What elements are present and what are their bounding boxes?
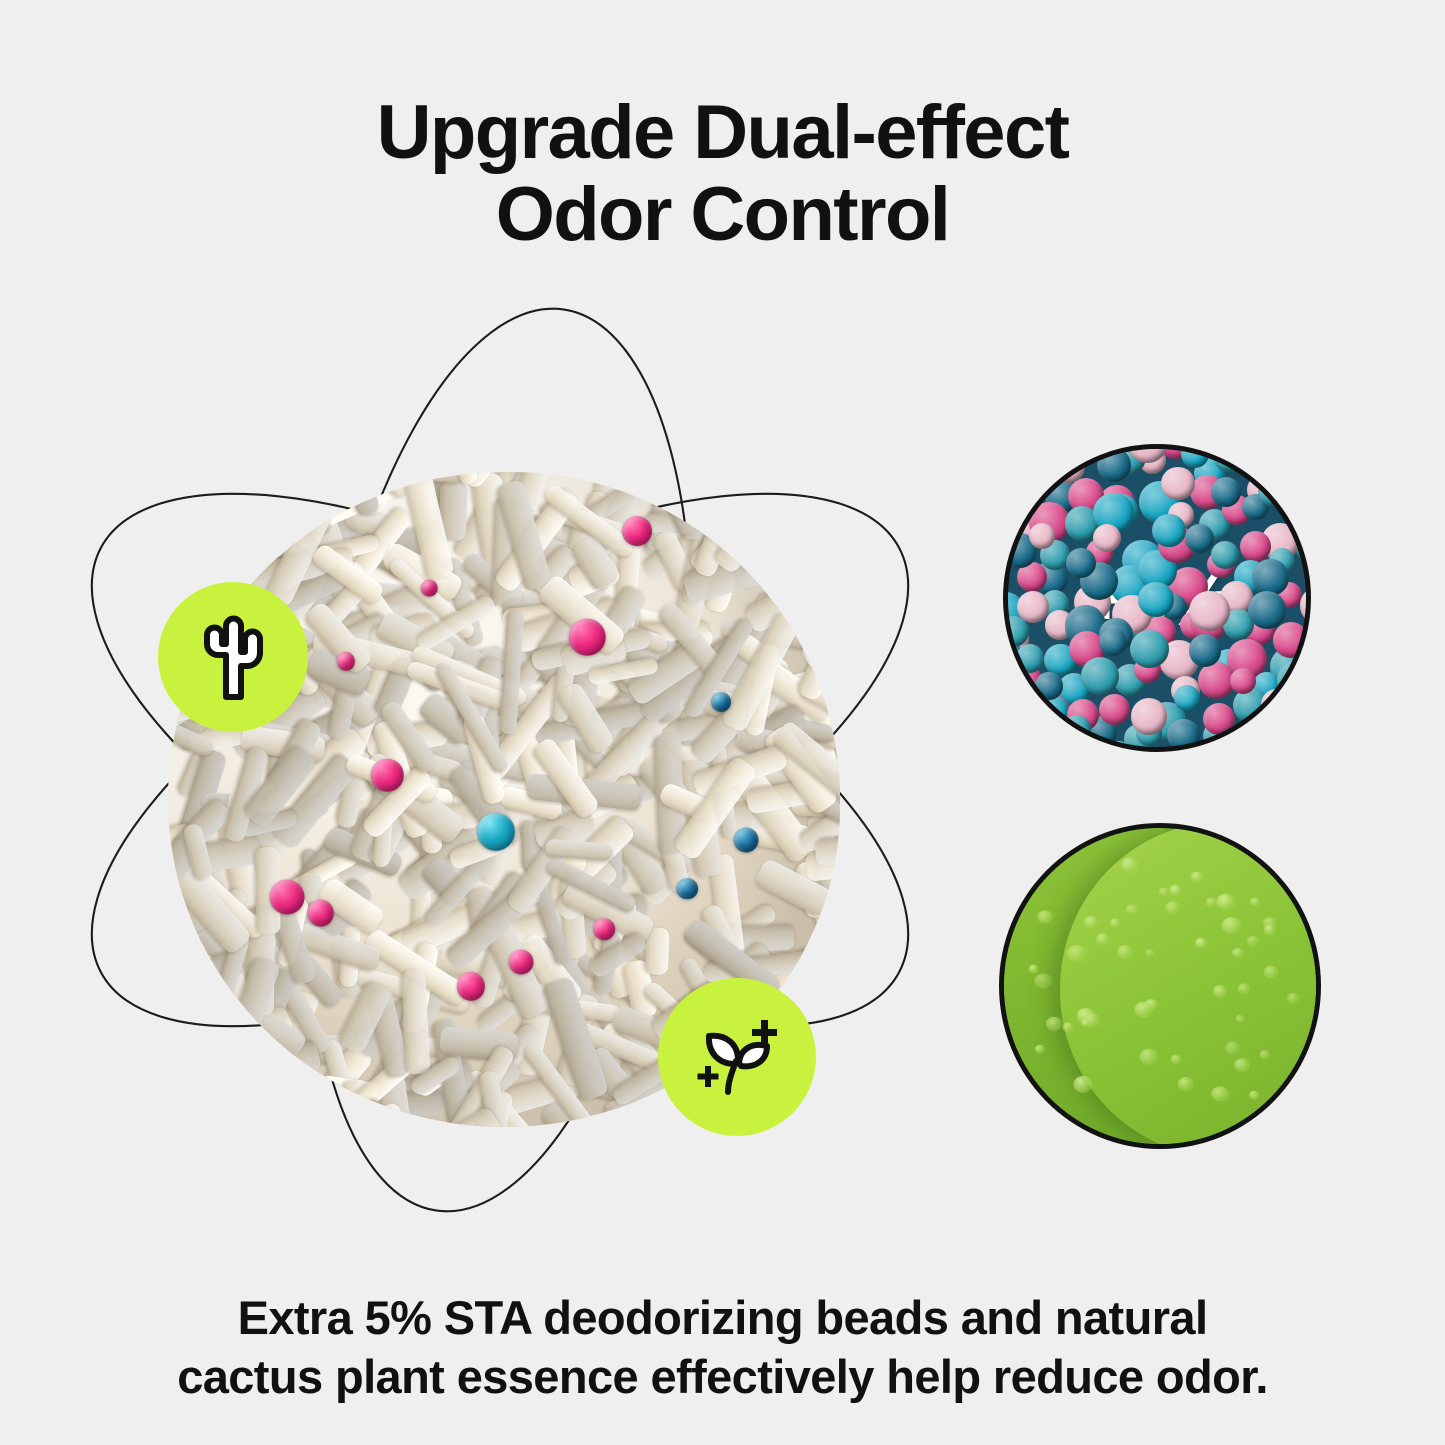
bead-closeup-texture — [1008, 449, 1306, 747]
deodorizing-bead — [1050, 748, 1090, 752]
deodorizing-bead — [1003, 451, 1008, 484]
deodorizing-bead — [1138, 582, 1173, 617]
cactus-areole-bump — [1139, 1048, 1158, 1065]
cactus-areole-bump — [1259, 1050, 1270, 1060]
badge-cactus[interactable] — [158, 582, 308, 732]
cactus-areole-bump — [1250, 898, 1260, 907]
cactus-areole-bump — [1121, 857, 1139, 873]
deodorizing-bead — [1273, 622, 1309, 658]
deodorizing-bead — [1284, 473, 1311, 500]
deodorizing-bead — [1099, 694, 1130, 725]
cactus-areole-bump — [1225, 1041, 1240, 1054]
litter-bead-pink — [508, 949, 533, 974]
cactus-areole-bump — [1177, 1077, 1194, 1091]
deodorizing-bead — [1161, 467, 1194, 500]
deodorizing-bead — [1310, 621, 1311, 662]
cactus-areole-bump — [1035, 1045, 1045, 1054]
litter-bead-pink — [307, 900, 334, 927]
cactus-areole-bump — [1206, 898, 1217, 907]
deodorizing-bead — [1309, 744, 1311, 752]
deodorizing-bead — [1016, 644, 1045, 673]
deodorizing-bead — [1081, 657, 1119, 695]
deodorizing-bead — [1308, 658, 1311, 698]
deodorizing-bead — [1214, 444, 1242, 472]
cactus-areole-bump — [1081, 1019, 1091, 1028]
cactus-areole-bump — [1034, 974, 1052, 989]
deodorizing-bead — [1080, 444, 1111, 449]
cactus-areole-bump — [1264, 966, 1279, 979]
cactus-areole-bump — [1171, 1055, 1182, 1064]
cactus-areole-bump — [1237, 984, 1250, 995]
cactus-areole-bump — [1195, 938, 1207, 948]
deodorizing-bead — [1261, 689, 1292, 720]
cactus-areole-bump — [1212, 1086, 1230, 1101]
cactus-areole-bump — [1038, 910, 1053, 923]
deodorizing-bead — [1220, 750, 1249, 752]
cactus-pad-bumps — [1004, 828, 1316, 1144]
cactus-areole-bump — [1216, 894, 1235, 911]
cactus-areole-bump — [1134, 1001, 1153, 1018]
deodorizing-bead — [1189, 591, 1230, 632]
cactus-icon — [190, 611, 276, 703]
deodorizing-bead — [1131, 698, 1167, 734]
feature-circle-cactus-pads[interactable] — [999, 823, 1321, 1149]
litter-bead-pink — [622, 516, 652, 546]
cactus-areole-bump — [1110, 918, 1121, 927]
deodorizing-bead — [1099, 628, 1127, 656]
deodorizing-bead — [1203, 703, 1235, 735]
cactus-areole-bump — [1169, 885, 1182, 896]
deodorizing-bead — [1229, 724, 1263, 752]
cactus-areole-bump — [1213, 985, 1227, 997]
deodorizing-bead — [1240, 531, 1272, 563]
cactus-areole-bump — [1190, 872, 1203, 883]
litter-bead-navy — [711, 692, 731, 712]
litter-bead-navy — [676, 878, 698, 900]
headline-line-2: Odor Control — [0, 174, 1445, 256]
deodorizing-bead — [1035, 672, 1062, 699]
cactus-areole-bump — [1232, 948, 1244, 958]
deodorizing-bead — [1097, 448, 1131, 482]
sprout-sparkle-icon — [688, 1008, 786, 1106]
caption-line-1: Extra 5% STA deodorizing beads and natur… — [60, 1288, 1385, 1347]
deodorizing-bead — [1066, 548, 1096, 578]
feature-circle-deodorizing-beads[interactable]: +5% — [1003, 444, 1311, 752]
deodorizing-bead — [1011, 471, 1043, 503]
page-title: Upgrade Dual-effect Odor Control — [0, 92, 1445, 256]
cactus-areole-bump — [1159, 887, 1170, 896]
cactus-areole-bump — [1125, 904, 1138, 915]
cactus-areole-bump — [1263, 925, 1276, 936]
litter-bead-navy — [733, 828, 758, 853]
cactus-areole-bump — [1221, 917, 1242, 935]
cactus-areole-bump — [1063, 1023, 1074, 1032]
cactus-areole-bump — [1249, 1091, 1259, 1099]
product-feature-graphic: Upgrade Dual-effect Odor Control — [0, 0, 1445, 1445]
cactus-areole-bump — [1236, 1015, 1245, 1023]
deodorizing-bead — [1185, 524, 1215, 554]
badge-sprout[interactable] — [658, 978, 816, 1136]
cactus-areole-bump — [1073, 1076, 1092, 1092]
cactus-areole-bump — [1234, 1058, 1250, 1072]
litter-bead-pink — [337, 652, 355, 670]
headline-line-1: Upgrade Dual-effect — [0, 92, 1445, 174]
cactus-areole-bump — [1084, 916, 1098, 928]
deodorizing-bead — [1174, 685, 1200, 711]
litter-bead-pink — [421, 580, 438, 597]
cactus-areole-bump — [1096, 933, 1110, 945]
deodorizing-bead — [1130, 630, 1168, 668]
cactus-areole-bump — [1145, 949, 1154, 957]
litter-bead-pink — [569, 619, 606, 656]
deodorizing-bead — [1211, 541, 1239, 569]
litter-bead-pink — [371, 759, 403, 791]
deodorizing-bead — [1063, 715, 1090, 742]
cactus-areole-bump — [1247, 936, 1259, 946]
caption-text: Extra 5% STA deodorizing beads and natur… — [60, 1288, 1385, 1406]
deodorizing-bead — [1129, 747, 1161, 752]
deodorizing-bead — [1189, 634, 1221, 666]
deodorizing-bead — [1258, 479, 1285, 506]
cactus-areole-bump — [1117, 945, 1133, 959]
cactus-areole-bump — [1028, 964, 1039, 973]
cactus-areole-bump — [1046, 1017, 1063, 1031]
litter-bead-pink — [457, 972, 485, 1000]
litter-bead-teal — [477, 813, 515, 851]
cactus-areole-bump — [1067, 945, 1088, 963]
orbiting-atom-diagram — [40, 300, 960, 1230]
deodorizing-bead — [1093, 524, 1121, 552]
deodorizing-bead — [1052, 450, 1085, 483]
deodorizing-bead — [1252, 559, 1289, 596]
cactus-areole-bump — [1165, 901, 1181, 915]
cactus-areole-bump — [1287, 993, 1299, 1003]
caption-line-2: cactus plant essence effectively help re… — [60, 1347, 1385, 1406]
deodorizing-bead — [1230, 668, 1256, 694]
deodorizing-bead — [1248, 591, 1286, 629]
deodorizing-bead — [1152, 514, 1185, 547]
litter-bead-pink — [593, 919, 615, 941]
litter-bead-pink — [270, 879, 305, 914]
